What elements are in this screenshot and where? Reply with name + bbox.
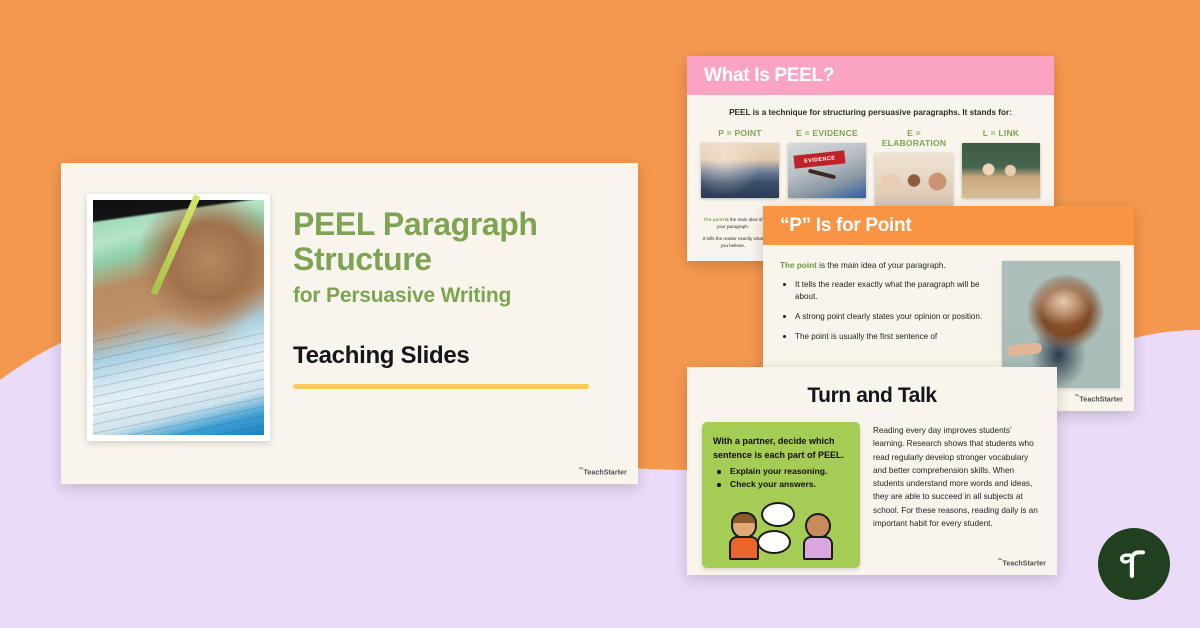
teach-starter-logo-icon[interactable]: [1098, 528, 1170, 600]
turn-talk-task-bullets: Explain your reasoning. Check your answe…: [713, 465, 849, 492]
point-slide-header-text: “P” Is for Point: [780, 215, 911, 237]
title-line-2: Structure: [293, 242, 613, 277]
point-slide-header: “P” Is for Point: [763, 206, 1134, 245]
peel-label-link: L = LINK: [962, 128, 1040, 138]
turn-talk-title: Turn and Talk: [687, 384, 1057, 408]
turn-talk-sample-paragraph: Reading every day improves students’ lea…: [873, 422, 1042, 568]
peel-columns: P = POINT E = EVIDENCE E = ELABORATION L…: [687, 128, 1054, 208]
title-subtitle: for Persuasive Writing: [293, 284, 613, 308]
title-photo-frame: [87, 194, 270, 441]
classroom-hands-raised-photo: [701, 143, 779, 198]
student-left-head: [731, 513, 757, 539]
student-left-body: [729, 536, 759, 560]
peel-caption-2: It tells the reader exactly what you bel…: [701, 235, 765, 249]
title-slide[interactable]: PEEL Paragraph Structure for Persuasive …: [61, 163, 638, 484]
speech-bubble-icon: [761, 502, 795, 527]
students-laughing-photo: [875, 153, 953, 208]
title-text-block: PEEL Paragraph Structure for Persuasive …: [293, 207, 613, 389]
speech-bubble-icon: [757, 530, 791, 554]
title-line-1: PEEL Paragraph: [293, 207, 613, 242]
peel-slide-header-text: What Is PEEL?: [704, 65, 834, 87]
point-bullet-list: It tells the reader exactly what the par…: [780, 279, 992, 343]
student-left-illustration: [731, 513, 759, 560]
peel-caption-1: The point is the main idea of your parag…: [701, 216, 765, 230]
turn-talk-task-bullet: Explain your reasoning.: [713, 465, 849, 478]
turn-talk-columns: With a partner, decide which sentence is…: [687, 422, 1057, 568]
child-writing-in-notebook-photo: [93, 200, 264, 435]
point-lead-rest: is the main idea of your paragraph.: [817, 261, 946, 270]
peel-column-elaboration: E = ELABORATION: [875, 128, 953, 208]
turn-talk-task-bullet: Check your answers.: [713, 478, 849, 491]
point-bullet: It tells the reader exactly what the par…: [780, 279, 992, 303]
watermark-title-slide: ™TeachStarter: [578, 467, 627, 476]
student-left-hair: [731, 512, 757, 523]
point-bullet: The point is usually the first sentence …: [780, 331, 992, 343]
peel-label-evidence: E = EVIDENCE: [788, 128, 866, 138]
teach-starter-glyph-icon: [1114, 544, 1154, 584]
watermark-turn-talk-slide: ™TeachStarter: [997, 558, 1046, 567]
poster-canvas: PEEL Paragraph Structure for Persuasive …: [0, 0, 1200, 628]
peel-column-point: P = POINT: [701, 128, 779, 208]
peel-label-point: P = POINT: [701, 128, 779, 138]
student-right-illustration: [805, 513, 833, 560]
peel-column-link: L = LINK: [962, 128, 1040, 208]
student-right-body: [803, 536, 833, 560]
turn-talk-task-box: With a partner, decide which sentence is…: [702, 422, 860, 568]
two-students-talking-illustration: [727, 498, 835, 560]
peel-slide-header: What Is PEEL?: [687, 56, 1054, 95]
title-underline-rule: [293, 384, 589, 389]
peel-column-evidence: E = EVIDENCE: [788, 128, 866, 208]
two-students-writing-photo: [962, 143, 1040, 198]
turn-and-talk-slide[interactable]: Turn and Talk With a partner, decide whi…: [687, 367, 1057, 575]
peel-caption-highlight: The point: [703, 217, 724, 222]
evidence-bag-key-photo: [788, 143, 866, 198]
title-kicker: Teaching Slides: [293, 342, 613, 370]
point-lead-line: The point is the main idea of your parag…: [780, 261, 992, 270]
point-lead-highlight: The point: [780, 261, 817, 270]
peel-label-elaboration: E = ELABORATION: [875, 128, 953, 148]
point-bullet: A strong point clearly states your opini…: [780, 311, 992, 323]
watermark-point-slide: ™TeachStarter: [1074, 394, 1123, 403]
peel-lead-text: PEEL is a technique for structuring pers…: [687, 108, 1054, 117]
turn-talk-task-heading: With a partner, decide which sentence is…: [713, 435, 849, 462]
student-right-head: [805, 513, 831, 539]
